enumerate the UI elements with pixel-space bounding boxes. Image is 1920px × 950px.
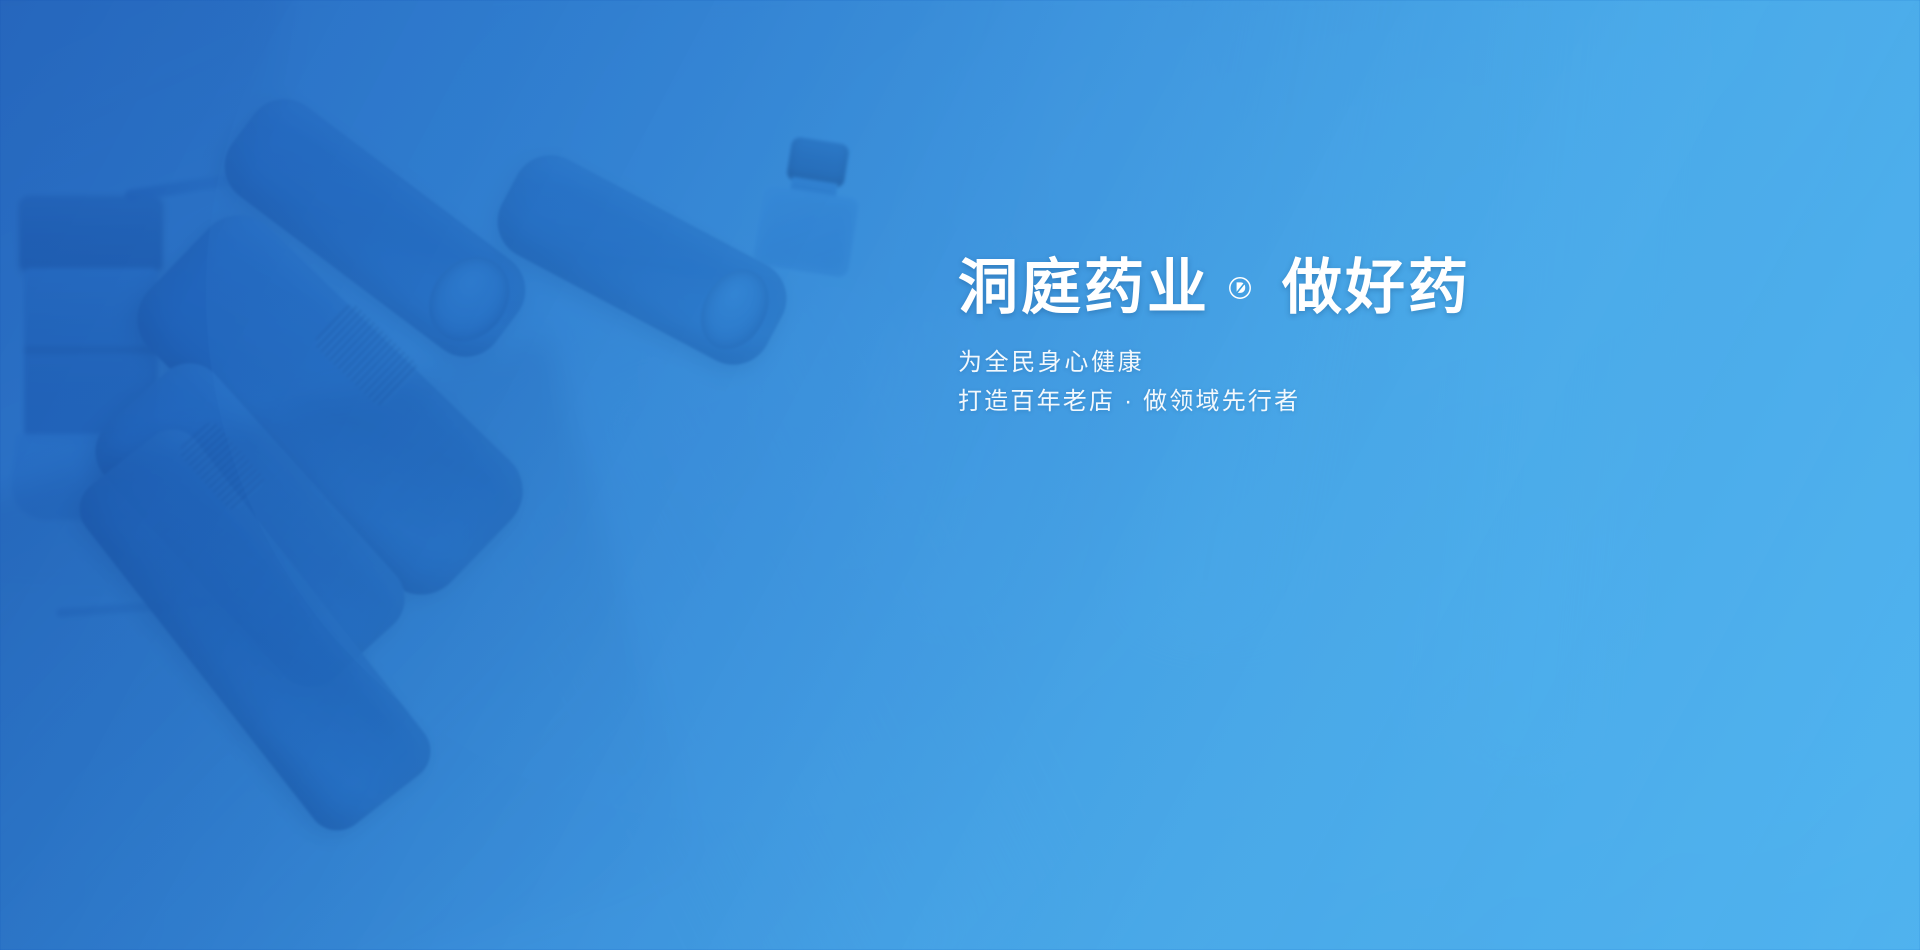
registered-circle-d-icon [1228,276,1252,300]
banner-content: 洞庭药业 做好药 为全民身心健康 打造百年老店 · 做领域先行者 [958,258,1858,422]
headline-brand: 洞庭药业 [958,258,1210,318]
banner-subtitle: 为全民身心健康 打造百年老店 · 做领域先行者 [958,344,1858,422]
subtitle-line-1: 为全民身心健康 [958,344,1858,383]
subtitle-line-2: 打造百年老店 · 做领域先行者 [958,383,1858,422]
blue-gradient-overlay [0,0,1920,950]
hero-banner: 洞庭药业 做好药 为全民身心健康 打造百年老店 · 做领域先行者 [0,0,1920,950]
page-title: 洞庭药业 做好药 [958,258,1858,318]
headline-slogan: 做好药 [1282,258,1471,318]
